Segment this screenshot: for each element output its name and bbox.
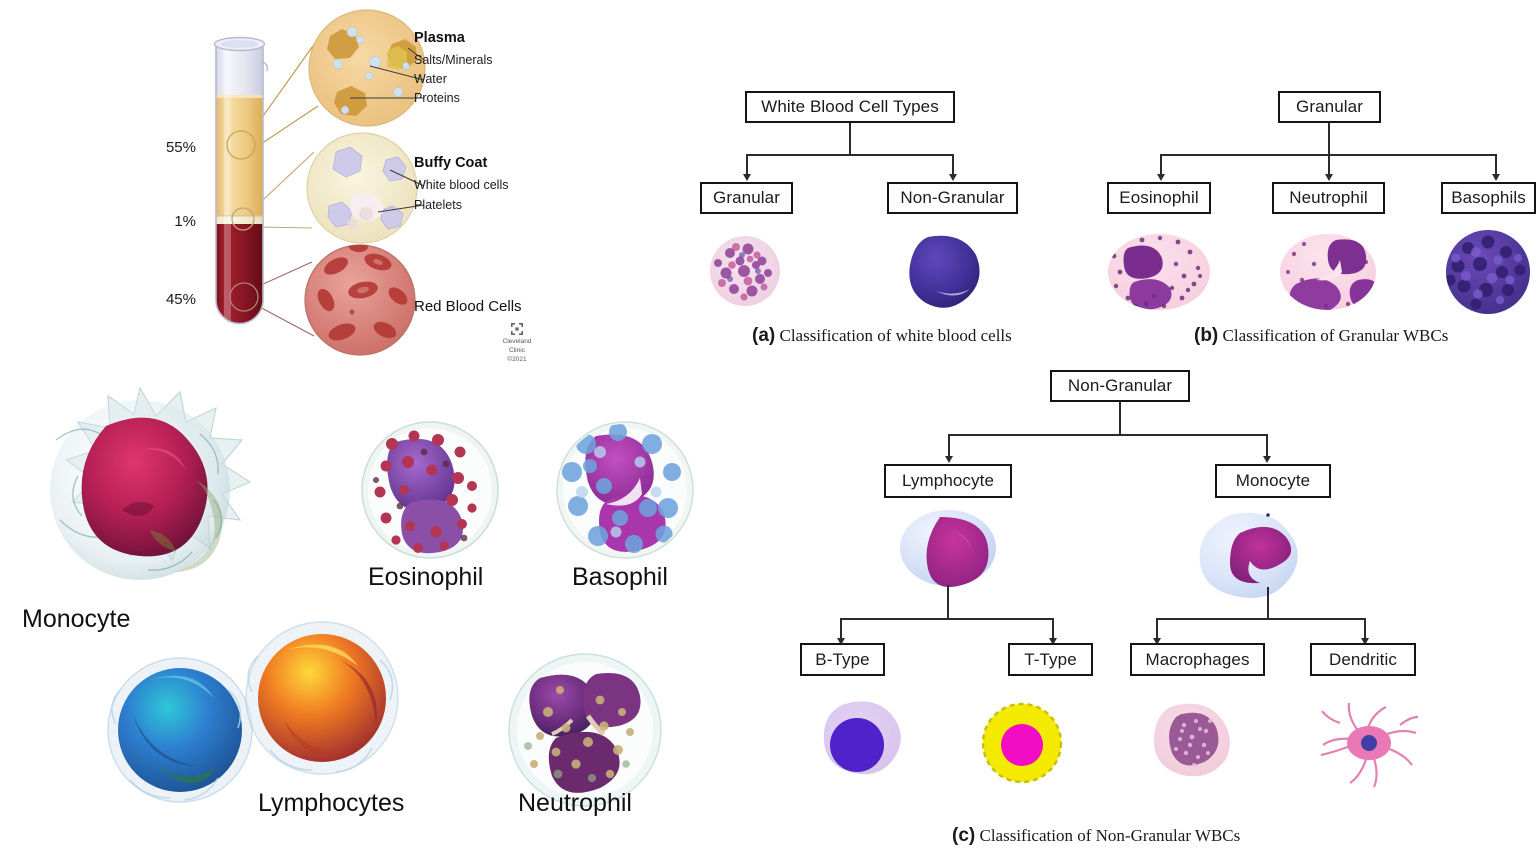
node-b-type[interactable]: B-Type	[800, 643, 885, 676]
connector-drop-lym-1	[840, 618, 842, 640]
node-non-granular-root[interactable]: Non-Granular	[1050, 370, 1190, 402]
panel-c-leaf-cell-images	[800, 685, 1420, 815]
tube-percent-red-blood-cells: 45%	[150, 291, 196, 308]
cleveland-clinic-logo-icon	[510, 322, 524, 336]
node-granular[interactable]: Granular	[700, 182, 793, 214]
gallery-label-neutrophil: Neutrophil	[518, 789, 632, 818]
panel-b-cell-images	[1090, 220, 1536, 325]
panel-a-classification-of-white-blood-cells: White Blood Cell Types Granular Non-Gran…	[700, 85, 1100, 355]
node-dendritic[interactable]: Dendritic	[1310, 643, 1416, 676]
connector-drop-c-1	[948, 434, 950, 458]
connector-drop-b-3	[1495, 154, 1497, 176]
connector-drop-a-2	[952, 154, 954, 176]
connector-stem-monocyte	[1267, 587, 1269, 619]
gallery-label-lymphocytes: Lymphocytes	[258, 789, 404, 818]
panel-a-caption-marker: (a)	[752, 325, 775, 346]
panel-c-caption-text: Classification of Non-Granular WBCs	[979, 826, 1240, 845]
callout-item-water: Water	[414, 72, 447, 86]
callout-item-proteins: Proteins	[414, 91, 460, 105]
node-white-blood-cell-types[interactable]: White Blood Cell Types	[745, 91, 955, 123]
connector-drop-c-2	[1266, 434, 1268, 458]
connector-drop-b-2	[1328, 154, 1330, 176]
gallery-label-monocyte: Monocyte	[22, 605, 130, 634]
connector-stem-b	[1328, 123, 1330, 155]
node-granular-root[interactable]: Granular	[1278, 91, 1381, 123]
panel-b-caption: (b) Classification of Granular WBCs	[1194, 325, 1448, 347]
connector-bar-lymphocyte	[840, 618, 1054, 620]
panel-c-caption-marker: (c)	[952, 825, 975, 846]
cleveland-clinic-attribution: Cleveland Clinic ©2021	[487, 322, 547, 364]
cell-gallery: Monocyte Eosinophil Basophil Lymphocytes…	[0, 360, 760, 864]
panel-a-caption-text: Classification of white blood cells	[779, 326, 1011, 345]
node-non-granular[interactable]: Non-Granular	[887, 182, 1018, 214]
node-t-type[interactable]: T-Type	[1008, 643, 1093, 676]
arrow-c-1	[945, 456, 953, 463]
gallery-label-eosinophil: Eosinophil	[368, 563, 483, 592]
callout-title-buffy-coat: Buffy Coat	[414, 155, 487, 171]
node-monocyte[interactable]: Monocyte	[1215, 464, 1331, 498]
connector-drop-a-1	[746, 154, 748, 176]
arrow-b-3	[1492, 174, 1500, 181]
arrow-b-1	[1157, 174, 1165, 181]
attribution-line-1: Cleveland	[487, 338, 547, 347]
panel-c-caption: (c) Classification of Non-Granular WBCs	[952, 825, 1240, 847]
connector-drop-mon-1	[1156, 618, 1158, 640]
callout-item-white-blood-cells: White blood cells	[414, 178, 509, 192]
connector-stem-lymphocyte	[947, 585, 949, 619]
panel-c-classification-of-non-granular-wbcs: Non-Granular Lymphocyte Monocyte	[800, 365, 1400, 855]
connector-bar-monocyte	[1156, 618, 1366, 620]
callout-item-salts-minerals: Salts/Minerals	[414, 53, 493, 67]
connector-drop-b-1	[1160, 154, 1162, 176]
connector-bar-c	[948, 434, 1268, 436]
connector-bar-a	[746, 154, 953, 156]
panel-b-caption-text: Classification of Granular WBCs	[1223, 326, 1449, 345]
connector-drop-mon-2	[1364, 618, 1366, 640]
connector-drop-lym-2	[1052, 618, 1054, 640]
arrow-a-2	[949, 174, 957, 181]
panel-c-mid-cell-images	[800, 503, 1400, 603]
panel-b-classification-of-granular-wbcs: Granular Eosinophil Neutrophil Basophils	[1090, 85, 1536, 355]
arrow-a-1	[743, 174, 751, 181]
node-macrophages[interactable]: Macrophages	[1130, 643, 1265, 676]
panel-a-caption: (a) Classification of white blood cells	[752, 325, 1012, 347]
node-eosinophil[interactable]: Eosinophil	[1107, 182, 1211, 214]
callout-title-plasma: Plasma	[414, 30, 465, 46]
arrow-c-2	[1263, 456, 1271, 463]
node-neutrophil[interactable]: Neutrophil	[1272, 182, 1385, 214]
panel-a-cell-images	[700, 221, 1100, 331]
node-lymphocyte[interactable]: Lymphocyte	[884, 464, 1012, 498]
blood-tube-diagram: 55% 1% 45% Plasma Salts/Minerals Water P…	[0, 0, 600, 370]
tube-percent-plasma: 55%	[150, 139, 196, 156]
callout-item-platelets: Platelets	[414, 198, 462, 212]
node-basophils[interactable]: Basophils	[1441, 182, 1536, 214]
arrow-b-2	[1325, 174, 1333, 181]
panel-b-caption-marker: (b)	[1194, 325, 1218, 346]
attribution-line-2: Clinic	[487, 347, 547, 356]
callout-title-red-blood-cells: Red Blood Cells	[414, 298, 522, 315]
gallery-label-basophil: Basophil	[572, 563, 668, 592]
connector-stem-a	[849, 123, 851, 155]
connector-stem-c	[1119, 402, 1121, 435]
tube-percent-buffy-coat: 1%	[150, 213, 196, 230]
